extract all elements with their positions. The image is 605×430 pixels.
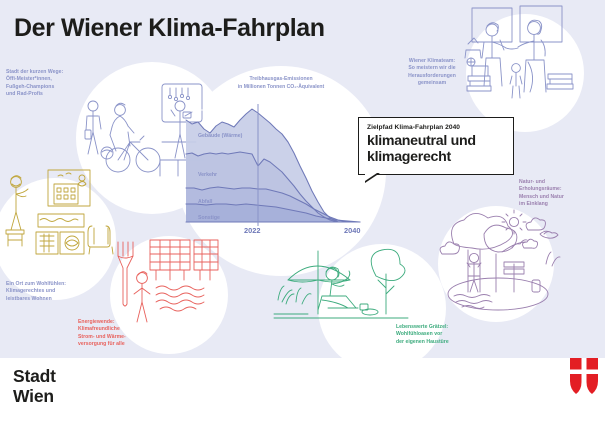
caption-graetzel-line-2: Wohlfühloasen vor (396, 331, 490, 338)
logo-line-2: Wien (13, 387, 56, 407)
poster-root: Der Wiener Klima-Fahrplan (0, 0, 605, 430)
caption-energy-line-2: Klimafreundliche (78, 326, 164, 333)
callout-headline: klimaneutral und klimagerecht (367, 134, 505, 166)
caption-graetzel-line-1: Lebenswerte Grätzel: (396, 324, 490, 331)
caption-graetzel: Lebenswerte Grätzel: Wohlfühloasen vor d… (396, 324, 490, 346)
caption-housing-line-2: Klimagerechtes und (6, 288, 100, 295)
callout-headline-line1: klimaneutral und (367, 134, 505, 150)
caption-nature-line-4: im Einklang (519, 201, 601, 208)
callout-box: Zielpfad Klima-Fahrplan 2040 klimaneutra… (358, 117, 514, 175)
caption-mobility-line-2: Öffi-Meister*innen, (6, 76, 94, 83)
caption-mobility: Stadt der kurzen Wege: Öffi-Meister*inne… (6, 69, 94, 99)
emissions-chart: Treibhausgas-Emissionen in Millionen Ton… (186, 76, 376, 236)
caption-energy: Energiewende: Klimafreundliche Strom- un… (78, 319, 164, 349)
callout-headline-line2: klimagerecht (367, 150, 505, 166)
poster-panel: Der Wiener Klima-Fahrplan (0, 0, 605, 358)
nature-illustration (440, 206, 566, 322)
caption-mobility-line-3: Fußgeh-Champions (6, 84, 94, 91)
caption-graetzel-line-3: der eigenen Haustüre (396, 339, 490, 346)
caption-nature: Natur- und Erholungsräume: Mensch und Na… (519, 179, 601, 209)
logo-line-1: Stadt (13, 367, 56, 387)
caption-climateteam-line-2: So meistern wir die (393, 65, 471, 72)
caption-housing-line-1: Ein Ort zum Wohlfühlen: (6, 281, 100, 288)
caption-energy-line-3: Strom- und Wärme- (78, 334, 164, 341)
caption-climateteam-line-1: Wiener Klimateam: (393, 58, 471, 65)
stadt-wien-logo: Stadt Wien (13, 367, 56, 406)
chart-label-sonstige: Sonstige (198, 215, 220, 221)
callout-tail-inner (365, 173, 377, 181)
caption-energy-line-4: versorgung für alle (78, 341, 164, 348)
caption-climateteam-line-4: gemeinsam (393, 80, 471, 87)
chart-title: Treibhausgas-Emissionen in Millionen Ton… (186, 76, 376, 91)
caption-housing: Ein Ort zum Wohlfühlen: Klimagerechtes u… (6, 281, 100, 303)
chart-xtick-2040: 2040 (344, 226, 360, 235)
caption-climateteam-line-3: Herausforderungen (393, 73, 471, 80)
energy-illustration (112, 238, 222, 330)
caption-nature-line-3: Mensch und Natur (519, 194, 601, 201)
vienna-shield-icon (570, 358, 598, 395)
chart-title-subtitle: in Millionen Tonnen CO₂-Äquivalent (186, 84, 376, 92)
chart-label-gebaeude: Gebäude (Wärme) (198, 133, 242, 139)
chart-label-abfall: Abfall (198, 199, 212, 205)
housing-illustration (2, 168, 114, 258)
caption-climateteam: Wiener Klimateam: So meistern wir die He… (393, 58, 471, 88)
chart-label-verkehr: Verkehr (198, 172, 217, 178)
chart-xtick-2022: 2022 (244, 226, 260, 235)
caption-housing-line-3: leistbares Wohnen (6, 296, 100, 303)
graetzel-illustration (272, 250, 412, 328)
caption-nature-line-2: Erholungsräume: (519, 186, 601, 193)
caption-nature-line-1: Natur- und (519, 179, 601, 186)
callout-kicker: Zielpfad Klima-Fahrplan 2040 (367, 124, 505, 131)
climateteam-illustration (462, 6, 588, 106)
caption-mobility-line-4: und Rad-Profis (6, 91, 94, 98)
chart-title-line1: Treibhausgas-Emissionen (186, 76, 376, 84)
caption-energy-line-1: Energiewende: (78, 319, 164, 326)
page-title: Der Wiener Klima-Fahrplan (14, 16, 325, 41)
